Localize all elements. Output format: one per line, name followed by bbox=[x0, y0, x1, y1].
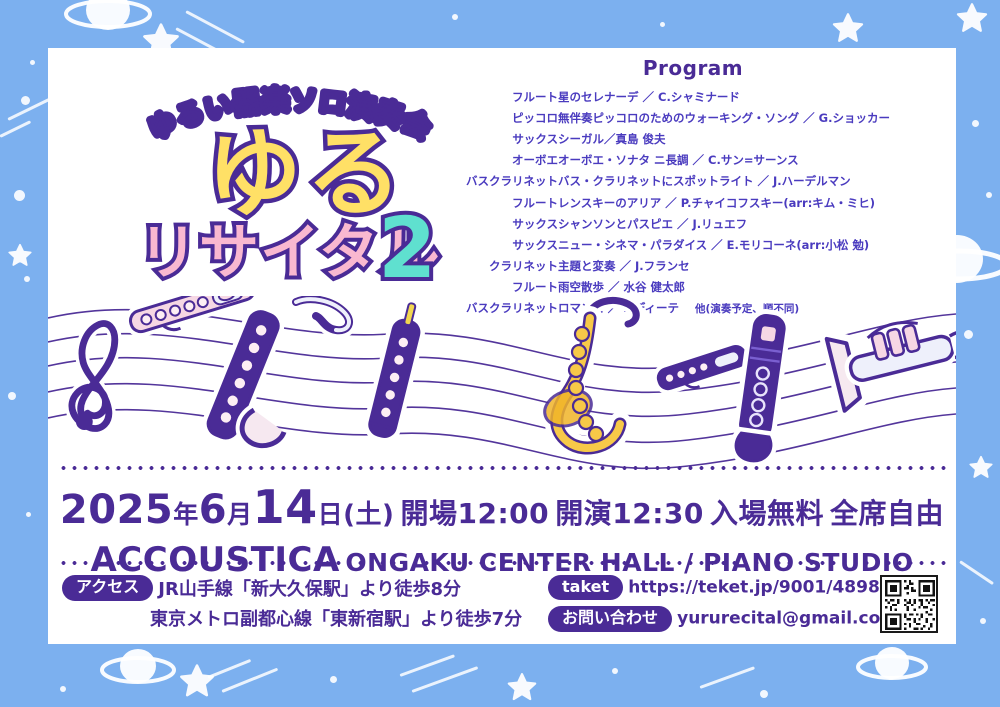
shooting-star-streak bbox=[959, 560, 994, 585]
star-dot bbox=[30, 60, 35, 65]
saxophone-icon bbox=[540, 300, 637, 448]
program-instrument: サックス bbox=[438, 234, 558, 255]
program-piece: シャンソンとパスピエ ／ J.リュエフ bbox=[558, 213, 948, 234]
oboe-icon bbox=[367, 301, 425, 439]
program-instrument: サックス bbox=[438, 213, 558, 234]
shooting-star-streak bbox=[185, 10, 245, 44]
program-piece: オーボエ・ソナタ ニ長調 ／ C.サン=サーンス bbox=[558, 150, 948, 171]
star-dot bbox=[964, 330, 973, 339]
program-piece: ニュー・シネマ・パラダイス ／ E.モリコーネ(arr:小松 勉) bbox=[558, 234, 948, 255]
program-piece: レンスキーのアリア ／ P.チャイコフスキー(arr:キム・ミヒ) bbox=[558, 192, 948, 213]
program-instrument: オーボエ bbox=[438, 150, 558, 171]
program-row: オーボエオーボエ・ソナタ ニ長調 ／ C.サン=サーンス bbox=[438, 150, 948, 171]
star-dot bbox=[972, 120, 979, 127]
event-logo: ゆるい器楽ソロ演奏会 ゆる リサイタル 2 bbox=[110, 78, 470, 303]
footer-info: アクセス JR山手線「新大久保駅」より徒歩8分 東京メトロ副都心線「東新宿駅」よ… bbox=[48, 573, 956, 643]
ticket-url[interactable]: https://teket.jp/9001/48985 bbox=[628, 578, 891, 598]
event-admission: 入場無料 bbox=[710, 497, 824, 530]
access-line-2: 東京メトロ副都心線「東新宿駅」より徒歩7分 bbox=[150, 609, 522, 630]
bass-clarinet-icon bbox=[205, 299, 349, 445]
star-icon bbox=[178, 663, 216, 701]
shooting-star-streak bbox=[207, 659, 251, 679]
event-month: 6 bbox=[199, 487, 227, 533]
contact-label-pill: お問い合わせ bbox=[548, 606, 672, 631]
star-dot bbox=[612, 668, 618, 674]
star-dot bbox=[452, 14, 458, 20]
event-date-line: 2025年6月14日(土) 開場12:00 開演12:30 入場無料 全席自由 bbox=[48, 480, 956, 534]
instrument-illustration bbox=[48, 296, 956, 471]
star-icon bbox=[7, 243, 33, 269]
shooting-star-streak bbox=[7, 98, 50, 121]
event-year: 2025 bbox=[60, 487, 173, 533]
program-instrument: フルート bbox=[438, 86, 558, 107]
program-piece: 主題と変奏 ／ J.フランセ bbox=[558, 256, 948, 277]
star-icon bbox=[831, 12, 865, 46]
logo-edition-number: 2 bbox=[378, 206, 436, 290]
ticket-contact-block: taket https://teket.jp/9001/48985 お問い合わせ… bbox=[548, 575, 888, 638]
star-icon bbox=[968, 455, 994, 481]
ticket-label-pill[interactable]: taket bbox=[548, 575, 623, 600]
shooting-star-streak bbox=[399, 654, 455, 677]
piccolo-icon bbox=[656, 344, 750, 398]
shooting-star-streak bbox=[699, 666, 755, 689]
star-dot bbox=[24, 276, 30, 282]
shooting-star-streak bbox=[221, 668, 278, 693]
star-dot bbox=[986, 192, 992, 198]
program-instrument: フルート bbox=[438, 277, 558, 298]
event-year-unit: 年 bbox=[173, 500, 199, 529]
star-dot bbox=[60, 686, 66, 692]
program-instrument: フルート bbox=[438, 192, 558, 213]
event-start: 開演12:30 bbox=[555, 497, 704, 530]
program-section: Program フルート星のセレナーデ ／ C.シャミナードピッコロ無伴奏ピッコ… bbox=[438, 56, 948, 319]
access-line-1: JR山手線「新大久保駅」より徒歩8分 bbox=[158, 579, 461, 600]
star-dot bbox=[980, 618, 986, 624]
event-doors: 開場12:00 bbox=[401, 497, 550, 530]
contact-email[interactable]: yururecital@gmail.com bbox=[677, 609, 898, 629]
access-block: アクセス JR山手線「新大久保駅」より徒歩8分 東京メトロ副都心線「東新宿駅」よ… bbox=[62, 575, 542, 635]
program-instrument: クラリネット bbox=[438, 256, 558, 277]
ticket-row: taket https://teket.jp/9001/48985 bbox=[548, 575, 888, 600]
access-row-1: アクセス JR山手線「新大久保駅」より徒歩8分 bbox=[62, 575, 542, 601]
event-details: 2025年6月14日(土) 開場12:00 開演12:30 入場無料 全席自由 … bbox=[48, 480, 956, 580]
contact-row: お問い合わせ yururecital@gmail.com bbox=[548, 606, 888, 631]
program-piece: 無伴奏ピッコロのためのウォーキング・ソング ／ G.ショッカー bbox=[558, 107, 948, 128]
qr-code[interactable] bbox=[880, 575, 938, 633]
program-row: フルートレンスキーのアリア ／ P.チャイコフスキー(arr:キム・ミヒ) bbox=[438, 192, 948, 213]
logo-main-line: ゆる bbox=[206, 126, 406, 222]
program-row: フルート雨空散歩 ／ 水谷 健太郎 bbox=[438, 277, 948, 298]
planet-saturn-icon bbox=[848, 645, 938, 703]
star-dot bbox=[26, 512, 31, 517]
star-dot bbox=[21, 96, 30, 105]
program-piece: 雨空散歩 ／ 水谷 健太郎 bbox=[558, 277, 948, 298]
program-piece: 星のセレナーデ ／ C.シャミナード bbox=[558, 86, 948, 107]
star-dot bbox=[8, 392, 16, 400]
program-instrument: サックス bbox=[438, 128, 558, 149]
star-dot bbox=[660, 22, 665, 27]
planet-saturn-icon bbox=[56, 0, 156, 50]
program-row: フルート星のセレナーデ ／ C.シャミナード bbox=[438, 86, 948, 107]
star-icon bbox=[506, 672, 538, 704]
event-weekday: (土) bbox=[343, 500, 394, 530]
program-instrument: ピッコロ bbox=[438, 107, 558, 128]
access-row-2: 東京メトロ副都心線「東新宿駅」より徒歩7分 bbox=[62, 605, 542, 631]
divider-top bbox=[58, 466, 946, 470]
treble-clef-icon bbox=[72, 324, 115, 430]
star-dot bbox=[760, 690, 768, 698]
flyer-card: ゆるい器楽ソロ演奏会 ゆる リサイタル 2 Program フルート星のセレナー… bbox=[48, 48, 956, 644]
star-dot bbox=[330, 676, 337, 683]
program-piece: シーガル／真島 俊夫 bbox=[558, 128, 948, 149]
program-row: クラリネット主題と変奏 ／ J.フランセ bbox=[438, 256, 948, 277]
star-icon bbox=[955, 2, 989, 36]
program-heading: Program bbox=[438, 56, 948, 80]
program-table: フルート星のセレナーデ ／ C.シャミナードピッコロ無伴奏ピッコロのためのウォー… bbox=[438, 86, 948, 319]
access-label-pill: アクセス bbox=[62, 575, 153, 600]
program-piece: バス・クラリネットにスポットライト ／ J.ハーデルマン bbox=[558, 171, 948, 192]
clarinet-icon bbox=[734, 314, 789, 463]
event-day-unit: 日 bbox=[318, 500, 344, 529]
program-row: ピッコロ無伴奏ピッコロのためのウォーキング・ソング ／ G.ショッカー bbox=[438, 107, 948, 128]
shooting-star-streak bbox=[411, 666, 478, 693]
program-instrument: バスクラリネット bbox=[438, 171, 558, 192]
shooting-star-streak bbox=[0, 120, 31, 138]
program-row: サックスニュー・シネマ・パラダイス ／ E.モリコーネ(arr:小松 勉) bbox=[438, 234, 948, 255]
event-seating: 全席自由 bbox=[830, 497, 944, 530]
event-day: 14 bbox=[253, 480, 318, 534]
program-row: サックスシーガル／真島 俊夫 bbox=[438, 128, 948, 149]
program-row: バスクラリネットバス・クラリネットにスポットライト ／ J.ハーデルマン bbox=[438, 171, 948, 192]
event-month-unit: 月 bbox=[227, 500, 253, 529]
star-dot bbox=[14, 190, 25, 201]
trumpet-icon bbox=[826, 304, 956, 412]
planet-saturn-icon bbox=[96, 648, 186, 706]
program-row: サックスシャンソンとパスピエ ／ J.リュエフ bbox=[438, 213, 948, 234]
